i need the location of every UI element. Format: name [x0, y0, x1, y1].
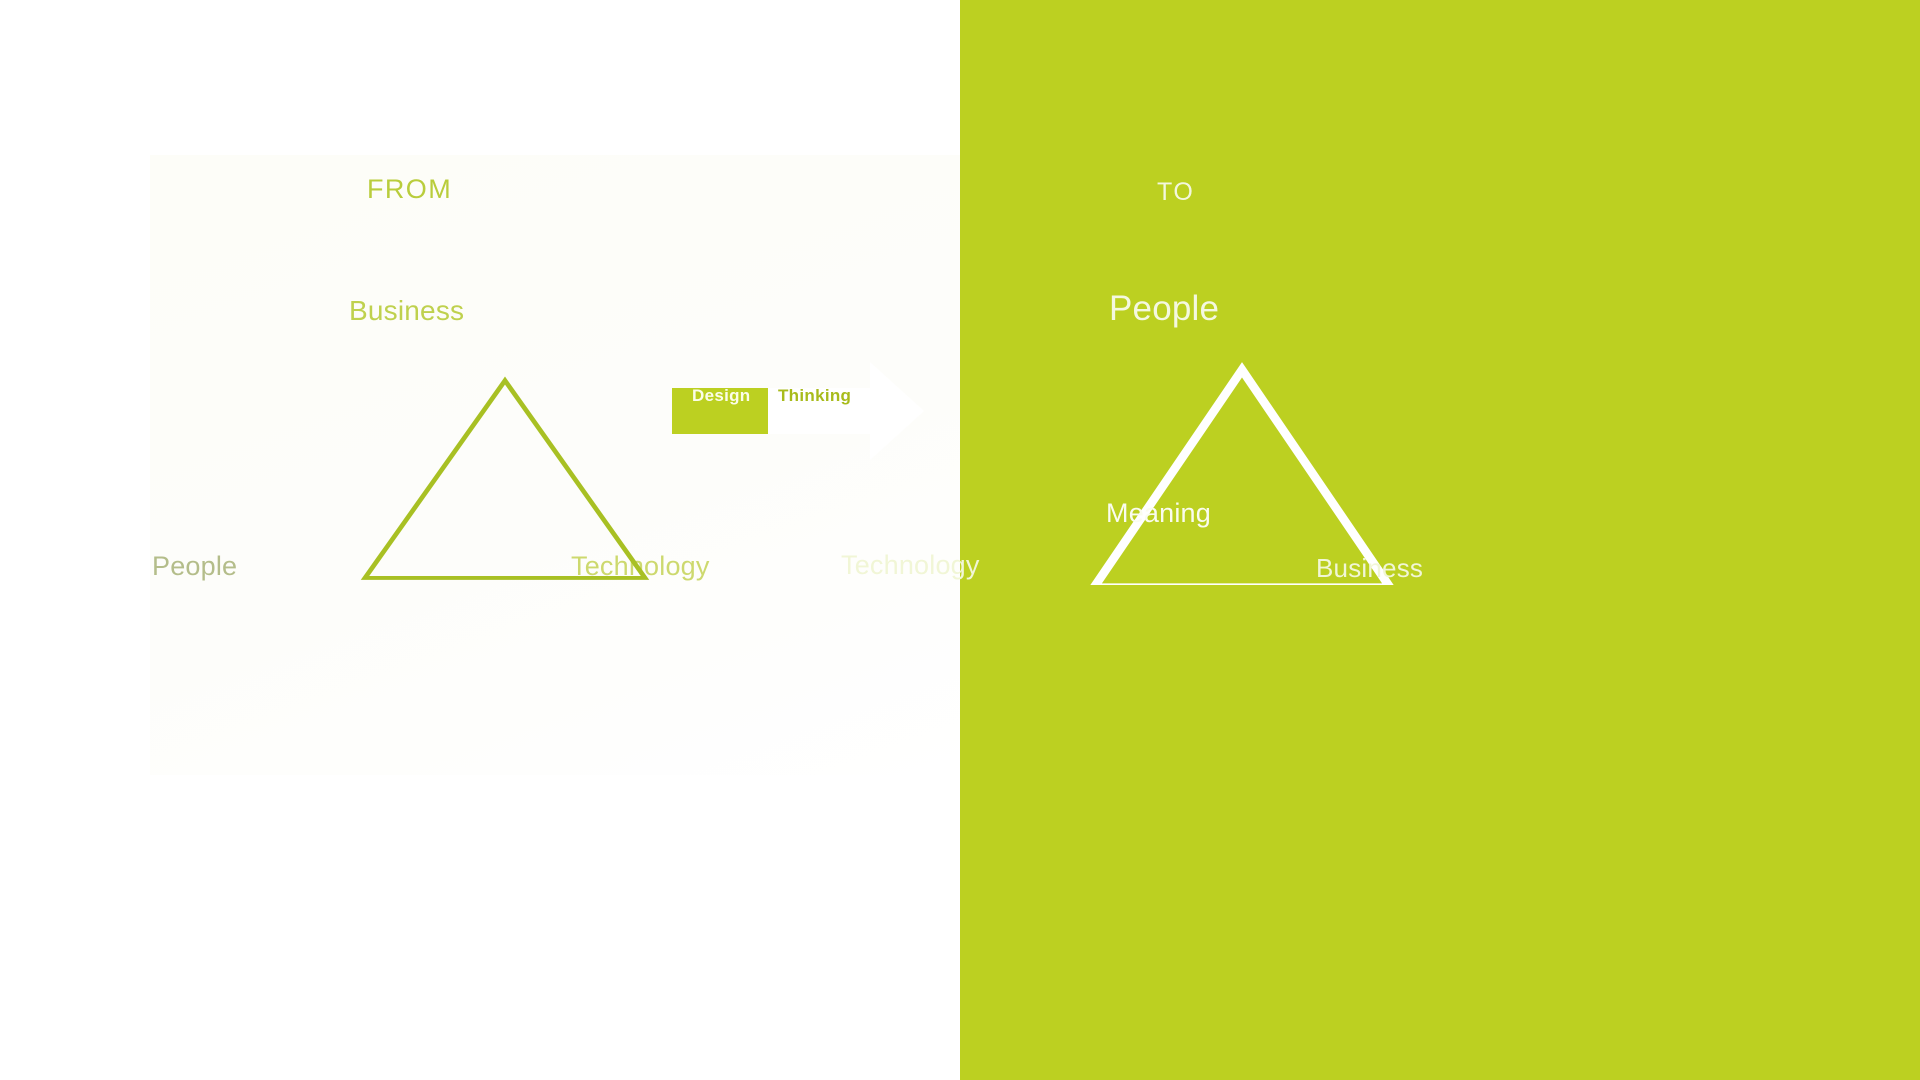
right-triangle-bottom-right-label: Business	[1316, 555, 1423, 581]
arrow-label-thinking: Thinking	[778, 387, 851, 404]
left-triangle-bottom-right-label: Technology	[571, 553, 710, 580]
arrow-label-design: Design	[692, 387, 750, 404]
arrow-shaft-white-segment-and-head	[768, 362, 924, 460]
right-panel-heading: TO	[1157, 180, 1194, 205]
right-triangle-apex-label: People	[1109, 291, 1219, 326]
design-thinking-arrow: Design Thinking	[672, 355, 972, 475]
left-triangle-bottom-left-label: People	[152, 553, 237, 580]
left-panel-heading: FROM	[367, 176, 452, 203]
right-triangle-center-label: Meaning	[1106, 500, 1211, 527]
right-triangle-bottom-left-label: Technology	[841, 552, 980, 579]
diagram-canvas: FROM Business People Technology TO Peopl…	[0, 0, 1920, 1080]
left-triangle-apex-label: Business	[349, 297, 464, 325]
arrow-right-icon	[672, 355, 972, 475]
right-panel	[960, 0, 1920, 1080]
left-panel	[0, 0, 960, 1080]
